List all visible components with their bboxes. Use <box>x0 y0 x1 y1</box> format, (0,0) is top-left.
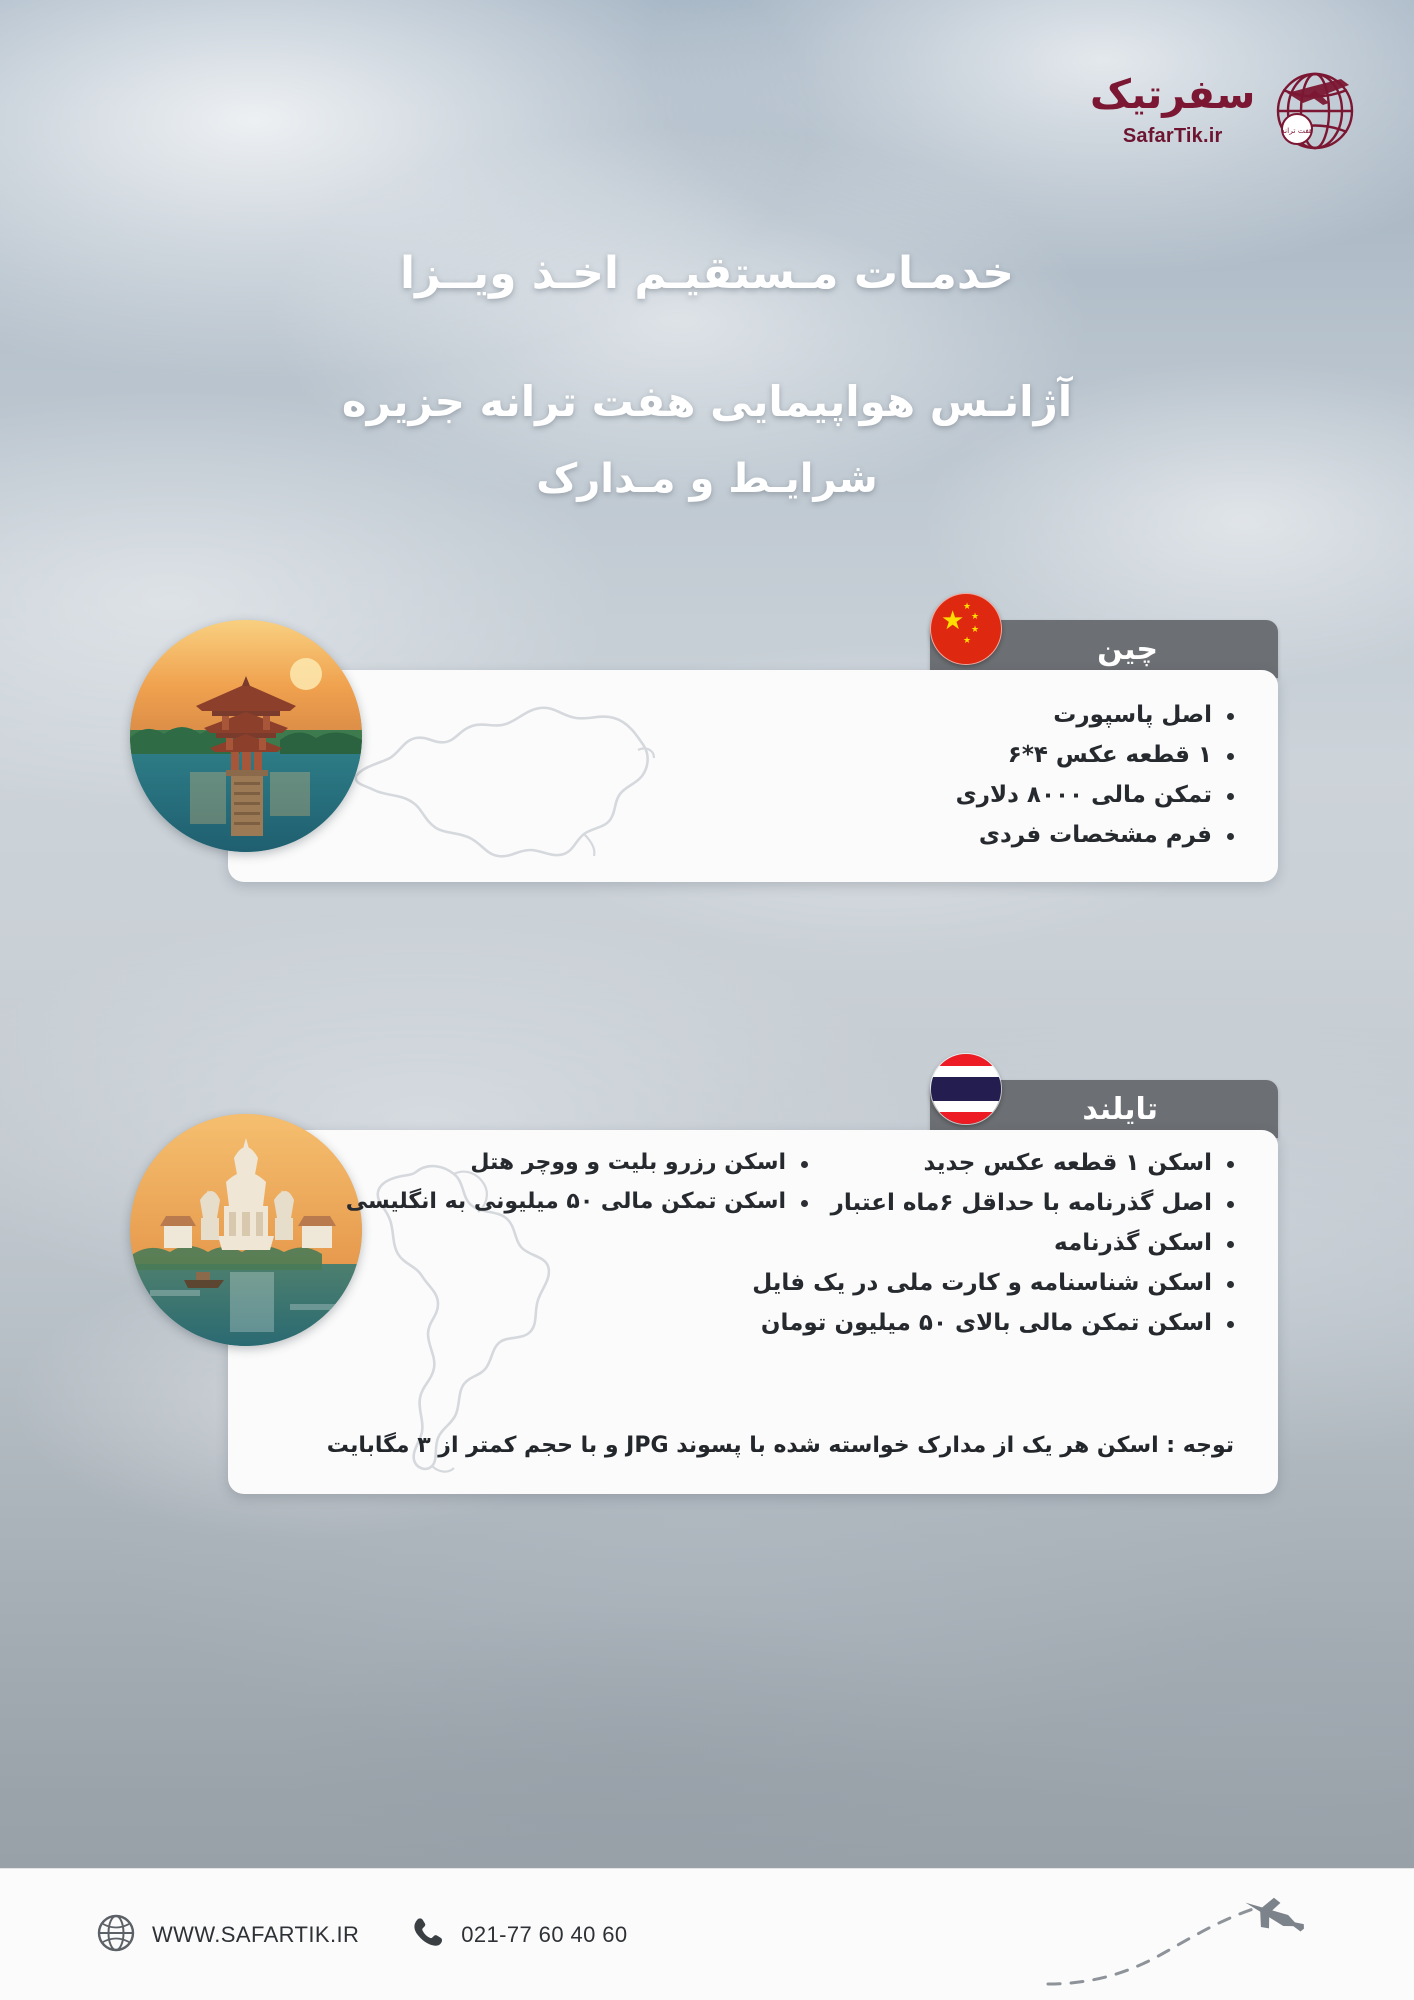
list-item: اسکن تمکن مالی بالای ۵۰ میلیون تومان <box>752 1312 1234 1335</box>
footer-website-text: WWW.SAFARTIK.IR <box>152 1922 359 1948</box>
thailand-requirements-list-secondary: اسکن رزرو بلیت و ووچر هتل اسکن تمکن مالی… <box>346 1152 808 1230</box>
thailand-scan-note: توجه : اسکن هر یک از مدارک خواسته شده با… <box>228 1433 1234 1458</box>
footer: WWW.SAFARTIK.IR 021-77 60 40 60 <box>0 1868 1414 2000</box>
thailand-temple-photo <box>130 1114 362 1346</box>
china-flag-icon: ★ ★ ★ ★ ★ <box>930 593 1002 665</box>
footer-phone[interactable]: 021-77 60 40 60 <box>411 1916 627 1954</box>
china-map-outline <box>338 680 668 880</box>
requirements-card-china: اصل پاسپورت ۱ قطعه عکس ۴*۶ تمکن مالی ۸۰۰… <box>228 670 1278 882</box>
list-item: اصل گذرنامه با حداقل ۶ماه اعتبار <box>752 1192 1234 1215</box>
china-pagoda-photo <box>130 620 362 852</box>
list-item: اسکن گذرنامه <box>752 1232 1234 1255</box>
thailand-requirements-list: اسکن ۱ قطعه عکس جدید اصل گذرنامه با حداق… <box>752 1152 1234 1352</box>
country-name-china: چین <box>1097 632 1158 667</box>
country-block-china: چین ★ ★ ★ ★ ★ <box>228 620 1278 692</box>
brand-logo: هفت ترانه سفرتیک SafarTik.ir <box>1090 56 1340 166</box>
thailand-flag-icon <box>930 1053 1002 1125</box>
list-item: تمکن مالی ۸۰۰۰ دلاری <box>956 784 1234 807</box>
page-title: خدمـات مـستقیـم اخـذ ویــزا <box>0 248 1414 299</box>
agency-name: آژانـس هواپیمایی هفت ترانه جزیره <box>0 377 1414 426</box>
list-item: اسکن ۱ قطعه عکس جدید <box>752 1152 1234 1175</box>
phone-icon <box>411 1916 445 1954</box>
footer-phone-text: 021-77 60 40 60 <box>461 1922 627 1948</box>
list-item: فرم مشخصات فردی <box>956 824 1234 847</box>
globe-airplane-icon: هفت ترانه <box>1263 59 1367 163</box>
china-requirements-list: اصل پاسپورت ۱ قطعه عکس ۴*۶ تمکن مالی ۸۰۰… <box>956 704 1234 864</box>
country-name-thailand: تایلند <box>1082 1092 1158 1127</box>
airplane-trail-icon <box>1044 1880 1344 1990</box>
list-item: ۱ قطعه عکس ۴*۶ <box>956 744 1234 767</box>
list-item: اصل پاسپورت <box>956 704 1234 727</box>
svg-text:هفت ترانه: هفت ترانه <box>1281 126 1313 135</box>
globe-icon <box>96 1913 136 1957</box>
footer-website[interactable]: WWW.SAFARTIK.IR <box>96 1913 359 1957</box>
logo-script-text: سفرتیک <box>1090 75 1255 115</box>
requirements-card-thailand: اسکن ۱ قطعه عکس جدید اصل گذرنامه با حداق… <box>228 1130 1278 1494</box>
list-item: اسکن رزرو بلیت و ووچر هتل <box>346 1152 808 1174</box>
subtitle-conditions: شرایـط و مـدارک <box>0 456 1414 502</box>
list-item: اسکن تمکن مالی ۵۰ میلیونی به انگلیسی <box>346 1191 808 1213</box>
poster-headings: خدمـات مـستقیـم اخـذ ویــزا آژانـس هواپی… <box>0 248 1414 502</box>
list-item: اسکن شناسنامه و کارت ملی در یک فایل <box>752 1272 1234 1295</box>
logo-latin-text: SafarTik.ir <box>1123 125 1223 148</box>
